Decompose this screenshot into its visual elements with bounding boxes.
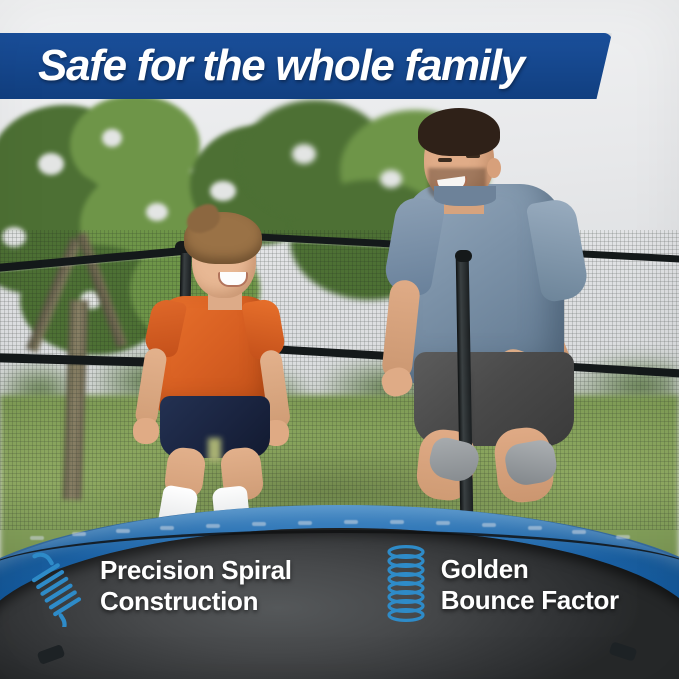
- boy-smile: [218, 272, 248, 287]
- trampoline-spring-row: [30, 520, 650, 544]
- net-pole-cap: [455, 250, 472, 262]
- boy-left-fist: [133, 418, 159, 444]
- feature-golden-bounce-factor: Golden Bounce Factor: [383, 545, 619, 625]
- man-hair: [418, 108, 500, 156]
- feature-label: Precision Spiral Construction: [100, 555, 292, 616]
- headline-text: Safe for the whole family: [0, 44, 524, 88]
- feature-callout-row: Precision Spiral Construction: [0, 545, 679, 645]
- man-collar: [434, 186, 496, 206]
- boy-shorts-gap: [208, 438, 221, 462]
- compression-coil-icon: [383, 545, 429, 625]
- man-eye: [438, 158, 452, 162]
- headline-banner: Safe for the whole family: [0, 33, 612, 99]
- tension-spring-icon: [18, 545, 88, 627]
- feature-precision-spiral-construction: Precision Spiral Construction: [18, 545, 292, 627]
- man-ear: [487, 158, 501, 178]
- product-lifestyle-image: Safe for the whole family: [0, 0, 679, 679]
- feature-label: Golden Bounce Factor: [441, 554, 619, 615]
